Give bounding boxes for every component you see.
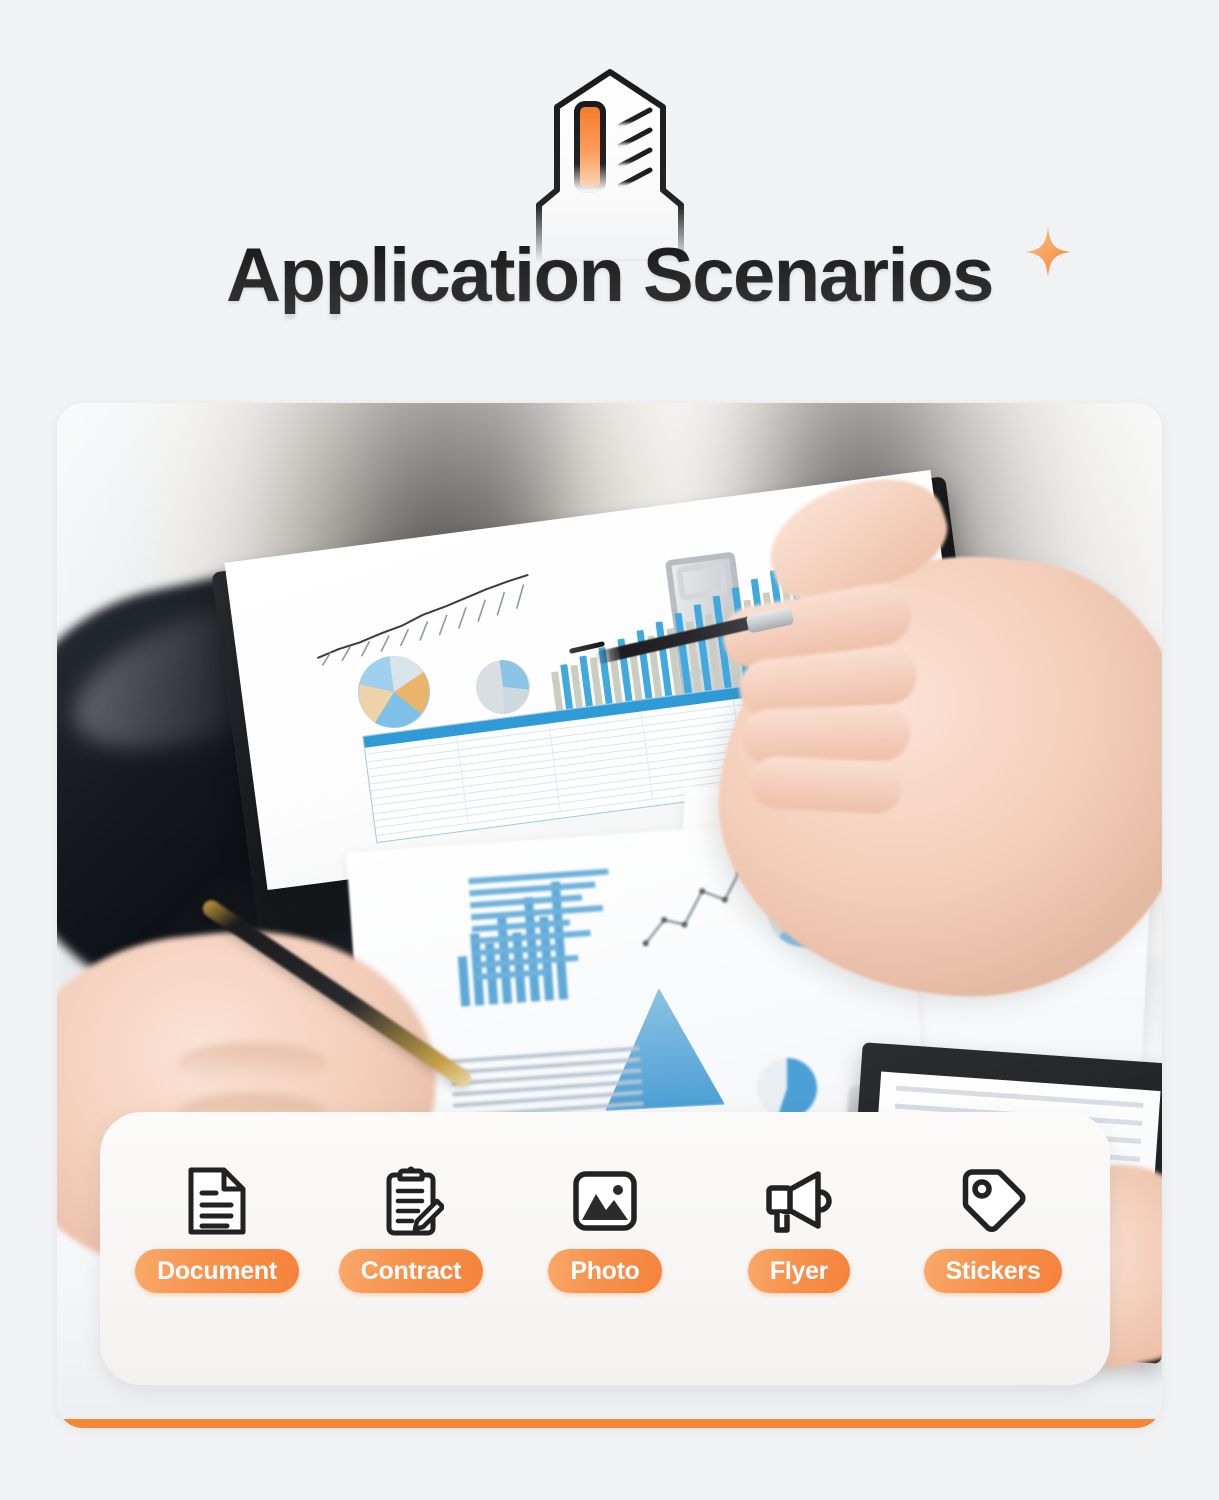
- printed-pie-chart-small: [472, 656, 535, 719]
- megaphone-icon: [762, 1164, 836, 1238]
- scenario-photo: Document: [57, 403, 1162, 1428]
- feature-badge-contract[interactable]: Contract: [339, 1249, 483, 1293]
- desk-sheet-pie-3: [757, 1058, 817, 1118]
- tag-icon: [956, 1164, 1030, 1238]
- feature-list: Document: [124, 1164, 1086, 1293]
- page-title: Application Scenarios: [226, 238, 993, 314]
- clipboard-pencil-icon: [374, 1164, 448, 1238]
- right-hand-finger-4: [749, 755, 904, 815]
- feature-badge-stickers[interactable]: Stickers: [924, 1249, 1063, 1293]
- building-logo-icon: [495, 62, 725, 262]
- application-scenarios-page: Application Scenarios: [0, 0, 1219, 1500]
- desk-sheet-pie-2: [762, 983, 832, 1053]
- feature-badge-photo[interactable]: Photo: [548, 1249, 661, 1293]
- right-hand-finger-3: [741, 704, 911, 766]
- feature-item-document[interactable]: Document: [124, 1164, 310, 1293]
- desk-sheet-horizontal-bars: [468, 868, 625, 986]
- image-icon: [568, 1164, 642, 1238]
- feature-card: Document: [100, 1112, 1110, 1385]
- printed-pie-chart-large: [352, 650, 435, 733]
- feature-badge-document[interactable]: Document: [135, 1249, 299, 1293]
- feature-badge-flyer[interactable]: Flyer: [748, 1249, 850, 1293]
- sparkle-icon: [1024, 226, 1072, 278]
- feature-item-flyer[interactable]: Flyer: [706, 1164, 892, 1293]
- left-hand-knuckle-1: [177, 1043, 327, 1083]
- feature-item-contract[interactable]: Contract: [318, 1164, 504, 1293]
- feature-item-stickers[interactable]: Stickers: [900, 1164, 1086, 1293]
- document-icon: [180, 1164, 254, 1238]
- desk-sheet-scatter-plot: [634, 854, 750, 951]
- page-header: Application Scenarios: [0, 0, 1219, 400]
- feature-item-photo[interactable]: Photo: [512, 1164, 698, 1293]
